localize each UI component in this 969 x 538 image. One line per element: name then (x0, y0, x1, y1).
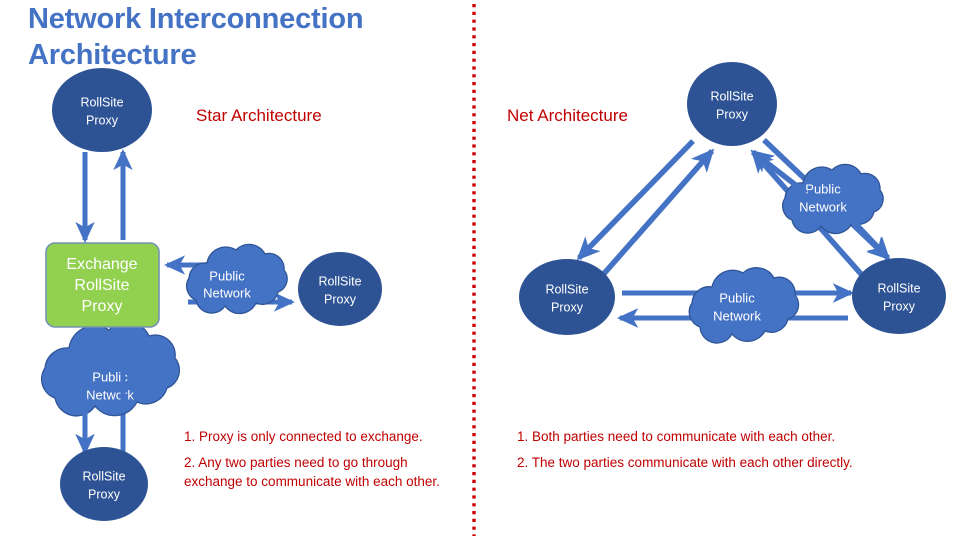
node-r-left-proxy-line1: RollSite (545, 282, 588, 296)
node-l-exchange-line1: Exchange (66, 256, 137, 273)
node-l-mid-cloud-line2: Network (203, 285, 251, 300)
node-l-bottom-proxy-line2: Proxy (88, 487, 121, 501)
node-l-top-proxy-line1: RollSite (80, 95, 123, 109)
node-l-top-proxy-line2: Proxy (86, 113, 119, 127)
star-note-1: 1. Proxy is only connected to exchange. (184, 427, 464, 446)
node-r-upper-cloud-line1: Public (805, 181, 841, 196)
star-note-2: 2. Any two parties need to go through ex… (184, 453, 464, 491)
node-l-right-proxy-line2: Proxy (324, 292, 357, 306)
node-r-right-proxy-line2: Proxy (883, 299, 916, 313)
node-l-bottom-cloud: Public Network (42, 322, 180, 416)
node-l-bottom-proxy-line1: RollSite (82, 469, 125, 483)
node-r-top-proxy-line2: Proxy (716, 107, 749, 121)
star-architecture-notes: 1. Proxy is only connected to exchange. … (184, 427, 464, 498)
node-l-bottom-proxy: RollSite Proxy (60, 447, 148, 521)
node-r-right-proxy: RollSite Proxy (852, 258, 946, 334)
node-r-upper-cloud-line2: Network (799, 199, 847, 214)
node-r-left-proxy: RollSite Proxy (519, 259, 615, 335)
node-r-top-proxy-line1: RollSite (710, 89, 753, 103)
diagram-canvas: Network Interconnection Architecture Sta… (0, 0, 969, 538)
net-note-1: 1. Both parties need to communicate with… (517, 427, 957, 446)
node-l-top-proxy: RollSite Proxy (52, 68, 152, 152)
arrow-rtop-to-rright-seg (852, 220, 888, 258)
node-r-center-cloud-line1: Public (719, 290, 755, 305)
node-r-left-proxy-line2: Proxy (551, 300, 584, 314)
node-l-exchange-line3: Proxy (82, 298, 123, 315)
node-l-exchange-line2: RollSite (74, 277, 129, 294)
net-note-2: 2. The two parties communicate with each… (517, 453, 957, 472)
node-r-center-cloud: Public Network (689, 268, 798, 343)
net-architecture-notes: 1. Both parties need to communicate with… (517, 427, 957, 479)
node-r-center-cloud-line2: Network (713, 308, 761, 323)
node-r-right-proxy-line1: RollSite (877, 281, 920, 295)
node-r-top-proxy: RollSite Proxy (687, 62, 777, 146)
node-l-right-proxy-line1: RollSite (318, 274, 361, 288)
node-l-exchange: Exchange RollSite Proxy (46, 243, 159, 327)
arrow-rleft-to-rtop (601, 151, 712, 277)
node-l-mid-cloud-line1: Public (209, 268, 245, 283)
node-l-right-proxy: RollSite Proxy (298, 252, 382, 326)
node-l-bottom-cloud-line2: Network (86, 387, 134, 402)
